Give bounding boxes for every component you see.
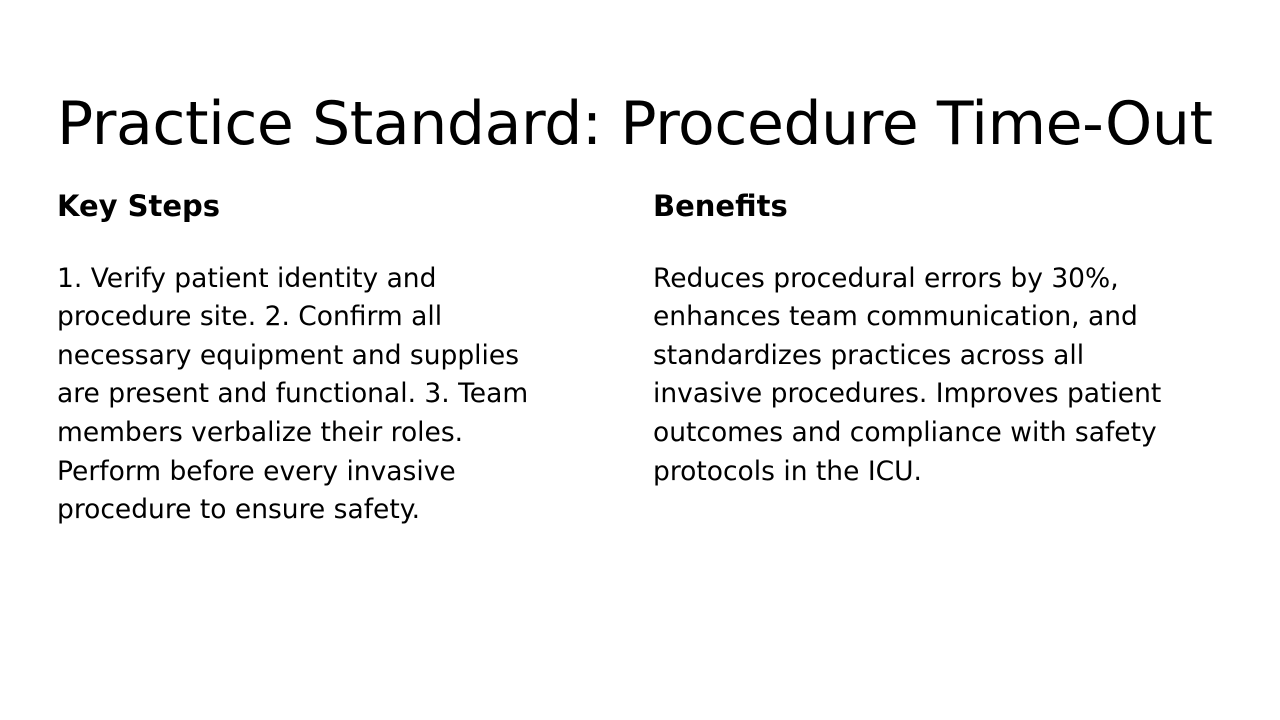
column-heading-key-steps: Key Steps xyxy=(57,188,557,226)
presentation-slide: Practice Standard: Procedure Time-Out Ke… xyxy=(0,0,1280,720)
column-heading-benefits: Benefits xyxy=(653,188,1165,226)
column-key-steps: Key Steps 1. Verify patient identity and… xyxy=(57,188,557,530)
column-body-benefits: Reduces procedural errors by 30%, enhanc… xyxy=(653,260,1165,492)
column-benefits: Benefits Reduces procedural errors by 30… xyxy=(653,188,1165,491)
slide-title: Practice Standard: Procedure Time-Out xyxy=(57,90,1227,159)
column-body-key-steps: 1. Verify patient identity and procedure… xyxy=(57,260,557,530)
two-column-content: Key Steps 1. Verify patient identity and… xyxy=(57,188,1223,530)
